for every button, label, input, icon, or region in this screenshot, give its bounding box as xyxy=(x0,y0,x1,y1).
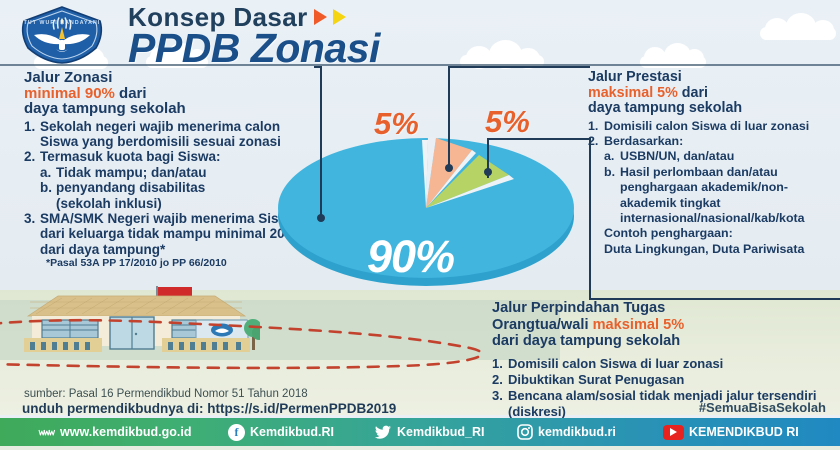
footer-youtube-label: KEMENDIKBUD RI xyxy=(689,425,799,439)
list-item: 2. Dibuktikan Surat Penugasan xyxy=(492,372,840,388)
triangle-orange-icon xyxy=(314,9,327,25)
leader-dot-prestasi xyxy=(484,168,492,176)
panel-prestasi-line3: daya tampung sekolah xyxy=(588,101,838,117)
footer-instagram[interactable]: kemdikbud.ri xyxy=(517,424,616,440)
title-block: Konsep Dasar PPDB Zonasi xyxy=(128,4,608,66)
list-subtext: (sekolah inklusi) xyxy=(56,196,162,211)
list-subnumber: b. xyxy=(40,180,56,195)
pie-label-peach: 5% xyxy=(374,106,419,142)
panel-zonasi-line3: daya tampung sekolah xyxy=(24,101,314,117)
page-title: PPDB Zonasi xyxy=(128,28,608,68)
list-number: 3. xyxy=(492,388,508,420)
instagram-icon xyxy=(517,424,533,440)
source-line-1: sumber: Pasal 16 Permendikbud Nomor 51 T… xyxy=(24,388,308,400)
list-subitem: b. penyandang disabilitas xyxy=(24,180,314,195)
pie-label-blue: 90% xyxy=(367,231,454,283)
hashtag: #SemuaBisaSekolah xyxy=(699,400,826,415)
list-item: 1. Sekolah negeri wajib menerima calon S… xyxy=(24,119,314,150)
leader-dot-perpindahan xyxy=(445,164,453,172)
footer-facebook-label: Kemdikbud.RI xyxy=(250,425,334,439)
panel-zonasi-subtitle-after: dari xyxy=(115,85,147,102)
footer-website-label: www.kemdikbud.go.id xyxy=(60,425,192,439)
list-item: 3. SMA/SMK Negeri wajib menerima Siswa d… xyxy=(24,211,314,257)
list-subitem: b. Hasil perlombaan dan/atau penghargaan… xyxy=(588,165,838,227)
list-subitem: a. USBN/UN, dan/atau xyxy=(588,149,838,164)
leader-line-prestasi-v xyxy=(487,138,489,168)
panel-perpindahan-highlight: maksimal 5% xyxy=(593,317,685,333)
panel-prestasi-example-label: Contoh penghargaan: xyxy=(604,226,733,241)
list-text: Domisili calon Siswa di luar zonasi xyxy=(604,119,809,134)
list-subtext: Tidak mampu; dan/atau xyxy=(56,165,207,180)
panel-prestasi-heading: Jalur Prestasi maksimal 5% dari daya tam… xyxy=(588,70,838,117)
source-line-2: unduh permendikbudnya di: https://s.id/P… xyxy=(22,401,396,416)
kemdikbud-logo-icon: TUT WURI HANDAYANI xyxy=(18,4,106,66)
panel-jalur-prestasi: Jalur Prestasi maksimal 5% dari daya tam… xyxy=(588,70,838,257)
panel-prestasi-highlight: maksimal 5% xyxy=(588,85,678,101)
footer-twitter-label: Kemdikbud_RI xyxy=(397,425,485,439)
panel-prestasi-list: 1. Domisili calon Siswa di luar zonasi 2… xyxy=(588,119,838,258)
list-text: SMA/SMK Negeri wajib menerima Siswa dari… xyxy=(40,211,314,257)
list-number: 1. xyxy=(24,119,40,150)
zone-dashed-boundary xyxy=(0,300,560,372)
www-icon xyxy=(38,428,55,437)
list-text: Berdasarkan: xyxy=(604,134,683,149)
triangle-yellow-icon xyxy=(333,9,346,25)
footer-facebook[interactable]: f Kemdikbud.RI xyxy=(228,424,334,441)
footer-bar: www.kemdikbud.go.id f Kemdikbud.RI Kemdi… xyxy=(0,418,840,446)
leader-line-perpindahan xyxy=(448,66,450,168)
leader-line-perpindahan-bottom xyxy=(589,298,840,300)
list-text: Sekolah negeri wajib menerima calon Sisw… xyxy=(40,119,314,150)
youtube-icon xyxy=(663,425,684,440)
leader-line-zonasi xyxy=(320,66,322,218)
list-subtext: USBN/UN, dan/atau xyxy=(620,149,734,164)
infographic-poster: TUT WURI HANDAYANI Konsep Dasar PPDB Zon… xyxy=(0,0,840,450)
panel-prestasi-subtitle-after: dari xyxy=(678,85,708,101)
list-subnumber: a. xyxy=(40,165,56,180)
list-text: Dibuktikan Surat Penugasan xyxy=(508,372,684,388)
panel-zonasi-heading: Jalur Zonasi minimal 90% dari daya tampu… xyxy=(24,70,314,117)
panel-zonasi-list: 1. Sekolah negeri wajib menerima calon S… xyxy=(24,119,314,258)
list-subtext: Hasil perlombaan dan/atau penghargaan ak… xyxy=(620,165,838,227)
footer-instagram-label: kemdikbud.ri xyxy=(538,425,616,439)
list-subitem: a. Tidak mampu; dan/atau xyxy=(24,165,314,180)
list-item: 2. Berdasarkan: xyxy=(588,134,838,149)
leader-line-prestasi-h xyxy=(487,138,591,140)
pie-label-green: 5% xyxy=(485,104,530,140)
twitter-icon xyxy=(374,425,392,440)
list-subitem: Duta Lingkungan, Duta Pariwisata xyxy=(588,242,838,257)
list-number: 2. xyxy=(492,372,508,388)
list-subnumber: a. xyxy=(604,149,620,164)
list-item: 2. Termasuk kuota bagi Siswa: xyxy=(24,149,314,164)
leader-line-prestasi-down xyxy=(589,138,591,298)
list-subtext: penyandang disabilitas xyxy=(56,180,205,195)
panel-zonasi-title: Jalur Zonasi xyxy=(24,70,314,86)
panel-zonasi-highlight: minimal 90% xyxy=(24,85,115,102)
panel-jalur-zonasi: Jalur Zonasi minimal 90% dari daya tampu… xyxy=(24,70,314,269)
list-subitem: Contoh penghargaan: xyxy=(588,226,838,241)
leader-line-zonasi-tick xyxy=(314,66,322,68)
panel-prestasi-title: Jalur Prestasi xyxy=(588,70,838,86)
list-text: Termasuk kuota bagi Siswa: xyxy=(40,149,221,164)
leader-dot-zonasi xyxy=(317,214,325,222)
list-item: 1. Domisili calon Siswa di luar zonasi xyxy=(588,119,838,134)
list-number: 2. xyxy=(24,149,40,164)
header-divider xyxy=(0,64,840,66)
footer-youtube[interactable]: KEMENDIKBUD RI xyxy=(663,425,799,440)
list-subnumber: b. xyxy=(604,165,620,227)
list-number: 1. xyxy=(588,119,604,134)
list-subitem: (sekolah inklusi) xyxy=(24,196,314,211)
leader-line-perpindahan-top xyxy=(448,66,590,68)
footer-twitter[interactable]: Kemdikbud_RI xyxy=(374,425,485,440)
facebook-icon: f xyxy=(228,424,245,441)
panel-zonasi-footnote: *Pasal 53A PP 17/2010 jo PP 66/2010 xyxy=(24,257,314,269)
footer-website[interactable]: www.kemdikbud.go.id xyxy=(38,425,192,439)
panel-prestasi-example-text: Duta Lingkungan, Duta Pariwisata xyxy=(604,242,804,257)
list-number: 3. xyxy=(24,211,40,257)
